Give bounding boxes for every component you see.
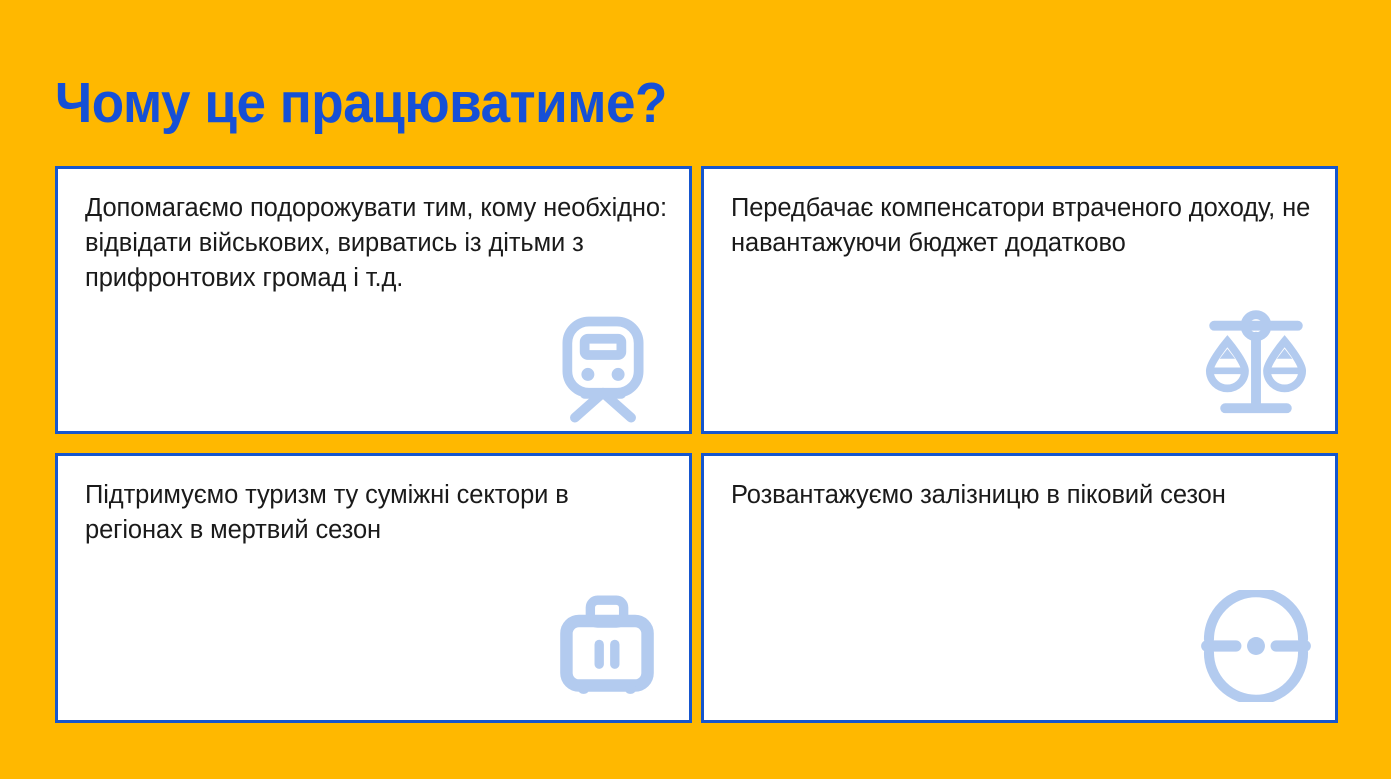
card-travel: Допомагаємо подорожувати тим, кому необх… bbox=[55, 166, 692, 434]
card-tourism: Підтримуємо туризм ту суміжні сектори в … bbox=[55, 453, 692, 723]
split-circle-icon bbox=[1197, 590, 1315, 702]
slide: Чому це працюватиме? Допомагаємо подорож… bbox=[0, 0, 1391, 779]
benefits-card-grid: Допомагаємо подорожувати тим, кому необх… bbox=[55, 166, 1338, 723]
page-title: Чому це працюватиме? bbox=[55, 72, 667, 134]
card-tourism-text: Підтримуємо туризм ту суміжні сектори в … bbox=[85, 478, 669, 548]
suitcase-icon bbox=[555, 590, 659, 702]
scales-icon bbox=[1197, 307, 1315, 417]
card-railway: Розвантажуємо залізницю в піковий сезон bbox=[701, 453, 1338, 723]
card-budget-text: Передбачає компенсатори втраченого доход… bbox=[731, 191, 1315, 261]
train-icon bbox=[549, 315, 657, 423]
card-budget: Передбачає компенсатори втраченого доход… bbox=[701, 166, 1338, 434]
card-travel-text: Допомагаємо подорожувати тим, кому необх… bbox=[85, 191, 669, 296]
card-railway-text: Розвантажуємо залізницю в піковий сезон bbox=[731, 478, 1315, 513]
